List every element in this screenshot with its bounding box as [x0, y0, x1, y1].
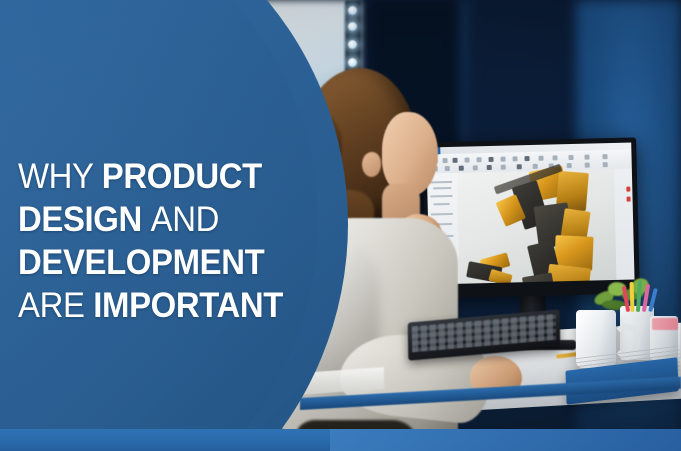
- headline-word-why: Why: [18, 157, 102, 196]
- headline-word-development: Development: [18, 243, 264, 282]
- keyboard-keys: [412, 314, 556, 353]
- headline-line-1: Why Product: [18, 155, 317, 198]
- ceiling-light-icon: [348, 22, 357, 31]
- headline-word-and: and: [151, 200, 219, 239]
- page-title: Why Product Design and Development Are I…: [18, 155, 317, 327]
- headline-line-3: Development: [18, 241, 317, 284]
- ceiling-light-icon: [348, 40, 357, 49]
- headline-line-2: Design and: [18, 198, 317, 241]
- ceiling-light-icon: [348, 58, 357, 67]
- headline-word-important: Important: [93, 286, 283, 325]
- cad-3d-viewport: [457, 169, 617, 284]
- headline-word-are: Are: [18, 286, 93, 325]
- headline-word-design: Design: [18, 200, 151, 239]
- sticky-notes: [652, 318, 678, 330]
- headline-word-product: Product: [102, 157, 262, 196]
- article-hero-banner: Why Product Design and Development Are I…: [0, 0, 681, 451]
- bottom-color-band-right: [330, 429, 681, 451]
- ceiling-light-icon: [348, 6, 357, 15]
- headline-line-4: Are Important: [18, 284, 317, 327]
- ear: [362, 152, 381, 177]
